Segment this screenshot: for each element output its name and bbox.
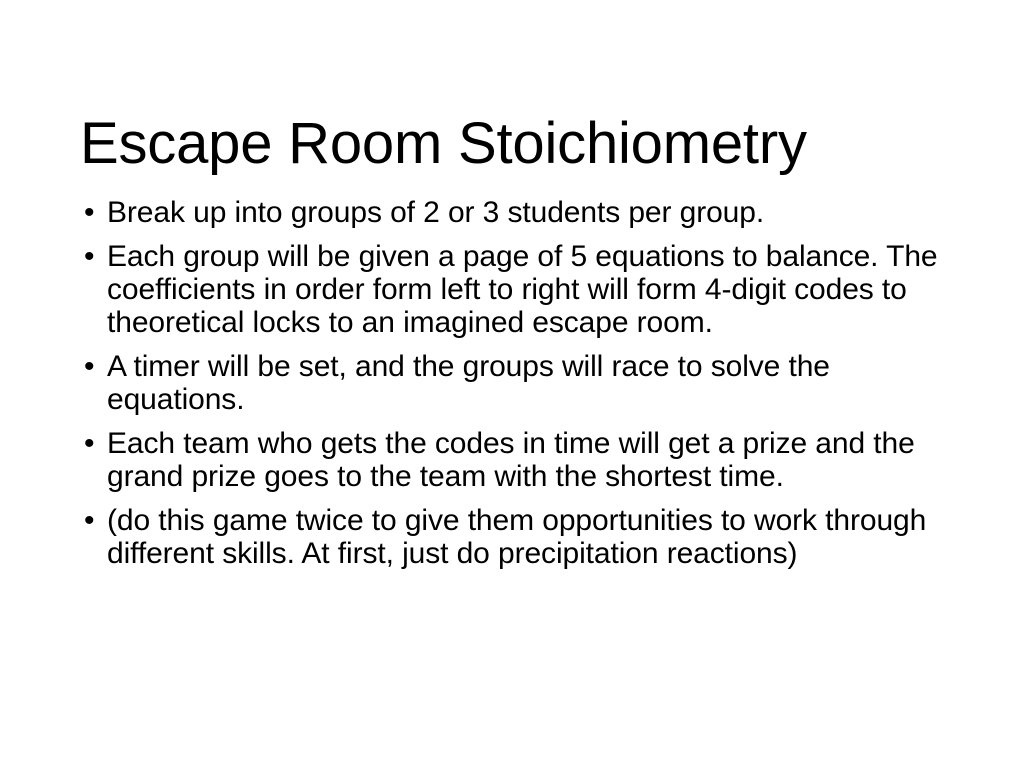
- list-item: • Each team who gets the codes in time w…: [80, 427, 960, 493]
- bullet-list: • Break up into groups of 2 or 3 student…: [80, 196, 960, 570]
- page-title: Escape Room Stoichiometry: [80, 109, 960, 179]
- list-item-text: Break up into groups of 2 or 3 students …: [107, 196, 960, 229]
- bullet-point-icon: •: [84, 240, 94, 273]
- slide-body: • Break up into groups of 2 or 3 student…: [80, 196, 960, 570]
- list-item-text: (do this game twice to give them opportu…: [107, 504, 960, 570]
- bullet-point-icon: •: [84, 350, 94, 383]
- list-item: • Each group will be given a page of 5 e…: [80, 240, 960, 339]
- bullet-point-icon: •: [84, 196, 94, 229]
- slide-canvas: Escape Room Stoichiometry • Break up int…: [0, 0, 1024, 768]
- list-item-text: Each team who gets the codes in time wil…: [107, 427, 960, 493]
- list-item-text: A timer will be set, and the groups will…: [107, 350, 960, 416]
- bullet-point-icon: •: [84, 427, 94, 460]
- list-item-text: Each group will be given a page of 5 equ…: [107, 240, 960, 339]
- list-item: • A timer will be set, and the groups wi…: [80, 350, 960, 416]
- list-item: • (do this game twice to give them oppor…: [80, 504, 960, 570]
- list-item: • Break up into groups of 2 or 3 student…: [80, 196, 960, 229]
- bullet-point-icon: •: [84, 504, 94, 537]
